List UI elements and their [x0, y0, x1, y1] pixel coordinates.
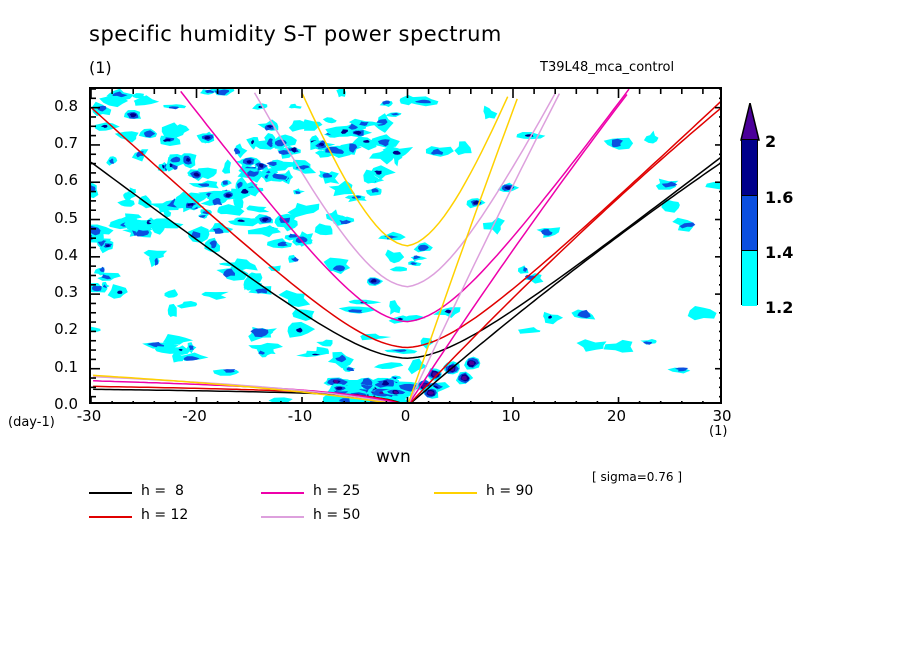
x-axis-title: wvn: [376, 447, 411, 467]
colorbar-tick-label: 1.6: [765, 188, 793, 207]
legend-line-swatch: [261, 516, 304, 518]
legend-line-swatch: [434, 492, 477, 494]
legend-entry-label: h = 50: [313, 507, 360, 523]
legend-line-swatch: [89, 516, 132, 518]
legend-entry-label: h = 8: [141, 483, 184, 499]
colorbar-cyan-segment: [742, 251, 757, 306]
x-tick-label: -30: [67, 407, 111, 425]
colorbar-navy-segment: [742, 140, 757, 196]
legend-line-swatch: [89, 492, 132, 494]
y-tick-label: 0.2: [32, 320, 78, 338]
sigma-annotation: [ sigma=0.76 ]: [592, 470, 682, 484]
legend-entry-label: h = 25: [313, 483, 360, 499]
y-tick-label: 0.1: [32, 358, 78, 376]
y-tick-label: 0.7: [32, 134, 78, 152]
legend: h = 8h = 12h = 25h = 50h = 90: [89, 483, 649, 531]
legend-entry-label: h = 90: [486, 483, 533, 499]
y-tick-label: 0.3: [32, 283, 78, 301]
x-unit-right-label: (1): [709, 424, 727, 439]
case-id-label: T39L48_mca_control: [540, 60, 674, 75]
figure-canvas: specific humidity S-T power spectrum (1)…: [0, 0, 904, 654]
y-tick-label: 0.5: [32, 209, 78, 227]
x-tick-label: 0: [384, 407, 428, 425]
x-tick-label: 10: [489, 407, 533, 425]
x-tick-label: 20: [595, 407, 639, 425]
colorbar-tick-label: 1.4: [765, 243, 793, 262]
x-unit-left-label: (day-1): [8, 415, 55, 430]
colorbar: [741, 139, 758, 305]
y-tick-label: 0.8: [32, 97, 78, 115]
y-tick-label: 0.6: [32, 171, 78, 189]
colorbar-tick-label: 2: [765, 132, 776, 151]
legend-line-swatch: [261, 492, 304, 494]
legend-entry-label: h = 12: [141, 507, 188, 523]
subtitle-label: (1): [89, 58, 112, 77]
colorbar-blue-segment: [742, 196, 757, 251]
x-tick-label: 30: [700, 407, 744, 425]
plot-area: [89, 87, 722, 404]
x-tick-label: -20: [173, 407, 217, 425]
colorbar-tick-label: 1.2: [765, 298, 793, 317]
page-title: specific humidity S-T power spectrum: [89, 22, 502, 46]
colorbar-arrow-icon: [738, 103, 762, 141]
x-tick-label: -10: [278, 407, 322, 425]
y-tick-label: 0.4: [32, 246, 78, 264]
spectrum-plot-svg: [91, 89, 722, 404]
